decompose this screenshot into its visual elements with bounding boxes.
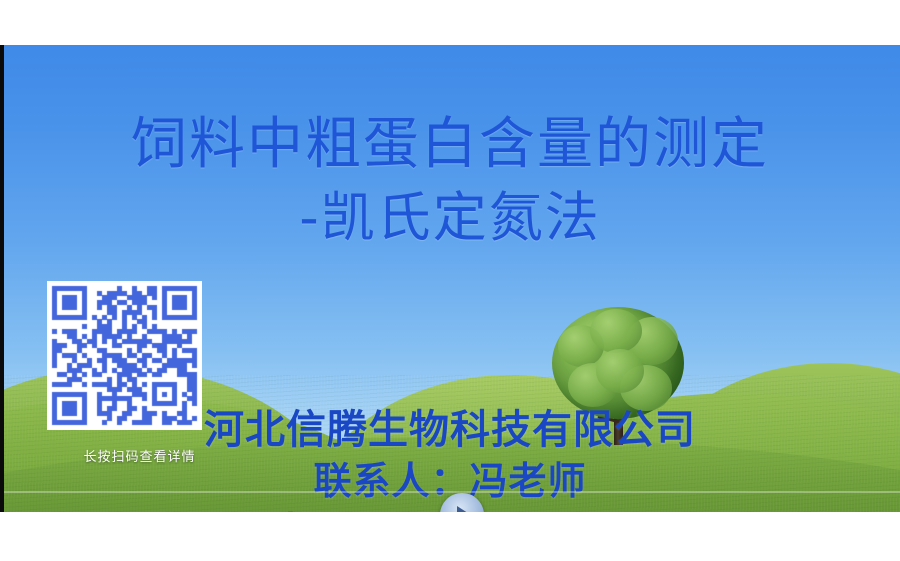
screenshot-root: 饲料中粗蛋白含量的测定 -凯氏定氮法 长按扫码查看详情 河北信腾生物科技有限公司… [0, 0, 900, 561]
tree-foliage-blob [596, 349, 644, 393]
title-line-subtitle: -凯氏定氮法 [0, 183, 900, 253]
frame-left-border [0, 45, 4, 512]
slide-title: 饲料中粗蛋白含量的测定 -凯氏定氮法 [0, 107, 900, 253]
qr-code-panel[interactable] [47, 281, 202, 430]
qr-code-icon[interactable] [47, 281, 202, 430]
video-progress-bar[interactable] [0, 491, 900, 493]
qr-code-caption: 长按扫码查看详情 [47, 446, 232, 465]
top-letterbox [0, 0, 900, 45]
bottom-letterbox [0, 512, 900, 561]
title-line-primary: 饲料中粗蛋白含量的测定 [0, 107, 900, 183]
qr-code-block[interactable]: 长按扫码查看详情 [47, 281, 232, 465]
video-player-surface[interactable]: 饲料中粗蛋白含量的测定 -凯氏定氮法 长按扫码查看详情 河北信腾生物科技有限公司… [0, 45, 900, 512]
tree-foliage-blob [590, 309, 642, 353]
